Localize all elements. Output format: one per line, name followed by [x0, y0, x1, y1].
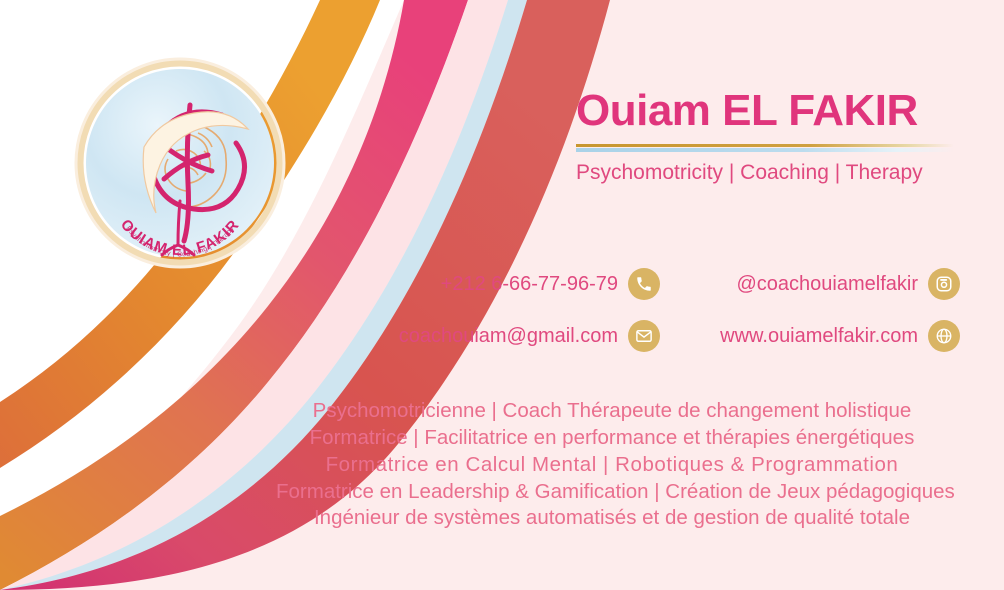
contact-instagram-value: @coachouiamelfakir [737, 273, 919, 296]
services-list: Psychomotricienne | Coach Thérapeute de … [276, 398, 948, 532]
service-line: Formatrice en Leadership & Gamification … [276, 479, 948, 506]
service-line: Psychomotricienne | Coach Thérapeute de … [276, 398, 948, 425]
contact-website-value: www.ouiamelfakir.com [720, 325, 918, 348]
service-line: Ingénieur de systèmes automatisés et de … [276, 505, 948, 532]
service-line: Formatrice | Facilitatrice en performanc… [276, 425, 948, 452]
instagram-icon[interactable] [928, 268, 960, 300]
email-icon[interactable] [628, 320, 660, 352]
contact-phone[interactable]: +212 6-66-77-96-79 [380, 268, 660, 300]
contact-row: coachouiam@gmail.com www.ouiamelfakir.co… [380, 310, 960, 362]
contact-row: +212 6-66-77-96-79 @coachouiamelfakir [380, 258, 960, 310]
globe-icon[interactable] [928, 320, 960, 352]
divider-blue-line [576, 148, 954, 152]
business-card: OUIAM EL FAKIR Psychomotricity | Coachin… [0, 0, 1004, 590]
name-block: Ouiam EL FAKIR Psychomotricity | Coachin… [576, 88, 956, 185]
service-line: Formatrice en Calcul Mental | Robotiques… [276, 452, 948, 479]
contact-instagram[interactable]: @coachouiamelfakir [660, 268, 960, 300]
logo-badge: OUIAM EL FAKIR Psychomotricity | Coachin… [72, 55, 288, 271]
contact-phone-value: +212 6-66-77-96-79 [441, 273, 618, 296]
phone-icon[interactable] [628, 268, 660, 300]
contact-email-value: coachouiam@gmail.com [399, 325, 618, 348]
header-tagline: Psychomotricity | Coaching | Therapy [576, 161, 956, 185]
contact-details: +212 6-66-77-96-79 @coachouiamelfakir [380, 258, 960, 362]
page-title: Ouiam EL FAKIR [576, 88, 956, 134]
divider [576, 144, 954, 152]
contact-website[interactable]: www.ouiamelfakir.com [660, 320, 960, 352]
divider-gold-line [576, 144, 954, 147]
contact-email[interactable]: coachouiam@gmail.com [380, 320, 660, 352]
